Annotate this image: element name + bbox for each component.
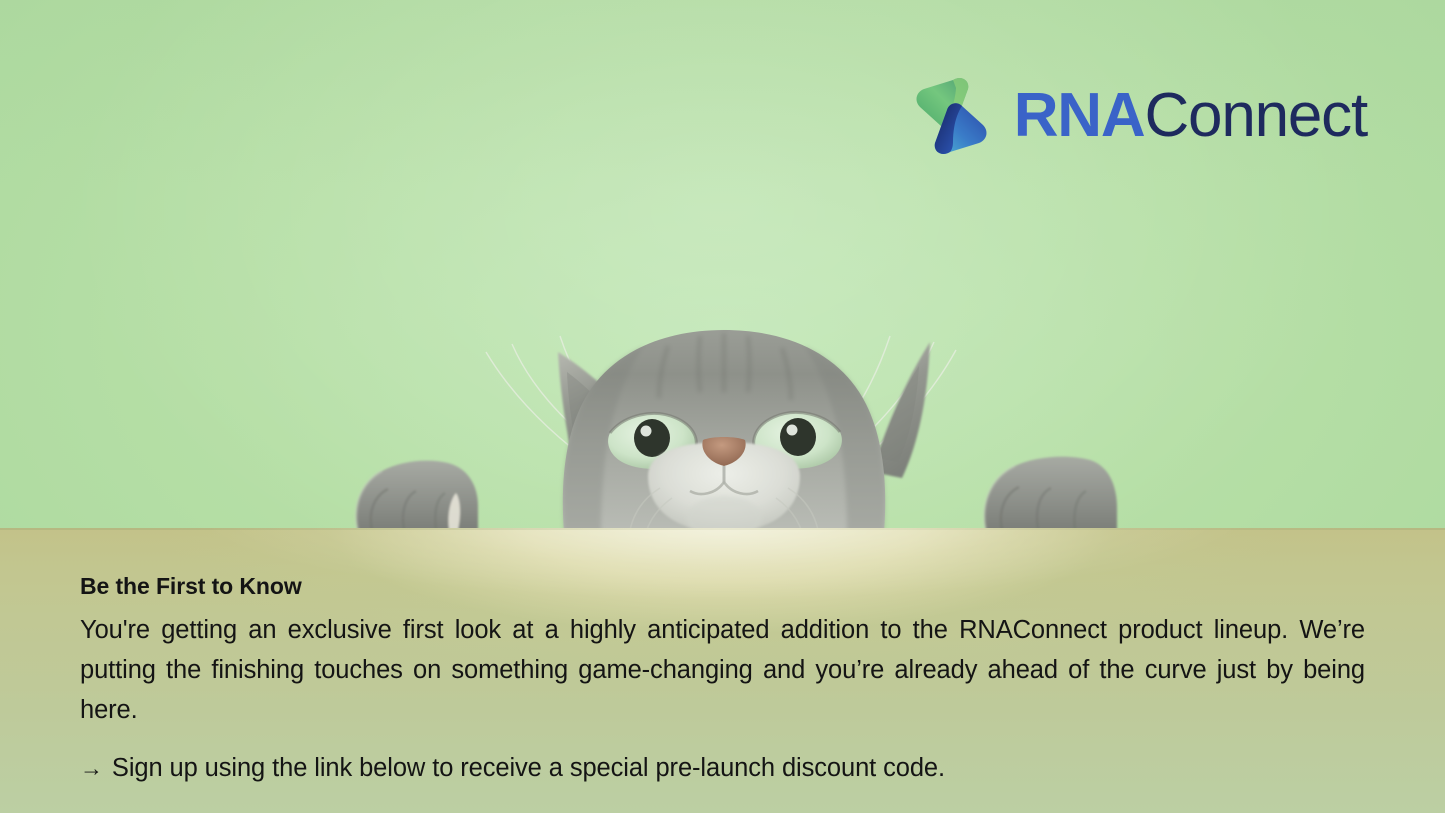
logo-wordmark: RNAConnect [1014, 85, 1367, 147]
arrow-right-icon: → [80, 751, 103, 785]
rnaconnect-chevron-icon [912, 74, 990, 158]
announcement-copy: Be the First to Know You're getting an e… [80, 572, 1365, 785]
logo-word-connect: Connect [1144, 81, 1367, 150]
copy-body: You're getting an exclusive first look a… [80, 610, 1365, 730]
logo-word-rna: RNA [1014, 81, 1145, 150]
announcement-slide: RNAConnect Be the First to Know You're g… [0, 0, 1445, 813]
rnaconnect-logo: RNAConnect [912, 74, 1367, 158]
copy-heading: Be the First to Know [80, 572, 1365, 601]
cta-text: Sign up using the link below to receive … [112, 751, 945, 785]
copy-cta: → Sign up using the link below to receiv… [80, 751, 1365, 785]
